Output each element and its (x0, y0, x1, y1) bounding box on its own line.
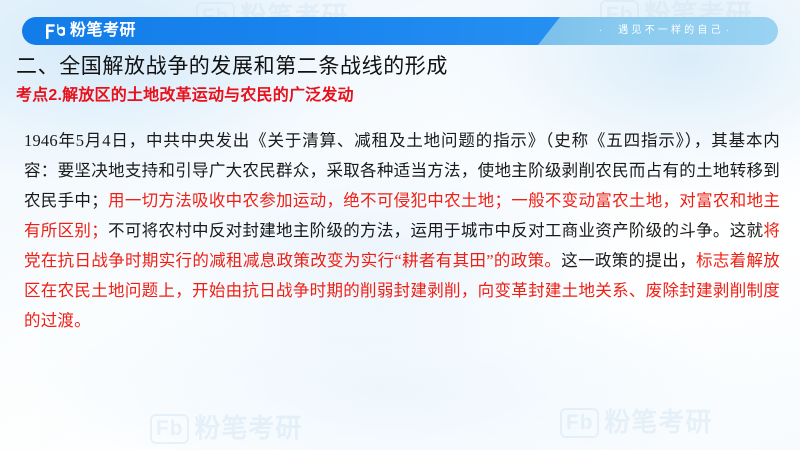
slide-canvas: Fb粉笔考研 Fb粉笔考研 Fb粉笔考研 Fb粉笔考研 粉笔考研 · 遇见不一样… (0, 0, 800, 450)
brand-logo-label: 粉笔考研 (70, 23, 136, 39)
body-paragraph: 1946年5月4日，中共中央发出《关于清算、减租及土地问题的指示》（史称《五四指… (24, 126, 780, 336)
tagline-dot-right: · (726, 26, 729, 36)
page-subtitle: 考点2.解放区的土地改革运动与农民的广泛发动 (16, 86, 354, 106)
tagline-dot-left: · (599, 26, 602, 36)
tagline-label: 遇见不一样的自己 (608, 26, 724, 36)
brand-logo-bar: 粉笔考研 (22, 17, 582, 45)
brand-logo: 粉笔考研 (44, 23, 136, 40)
body-segment-black: 不可将农村中反对封建地主阶级的方法，运用于城市中反对工商业资产阶级的斗争。这就 (108, 221, 763, 240)
brand-watermark-text: 粉笔考研 (194, 413, 302, 443)
brand-watermark: Fb粉笔考研 (150, 408, 302, 445)
body-segment-black: 这一政策的提出， (561, 251, 696, 270)
brand-watermark: Fb粉笔考研 (560, 402, 712, 439)
brand-watermark-text: 粉笔考研 (604, 407, 712, 437)
slide-header: 粉笔考研 · 遇见不一样的自己 · (22, 17, 778, 45)
brand-watermark-mark: Fb (560, 408, 599, 438)
page-title: 二、全国解放战争的发展和第二条战线的形成 (16, 53, 448, 79)
fenbi-logo-icon (44, 23, 65, 40)
tagline-bar: · 遇见不一样的自己 · (538, 17, 778, 45)
brand-watermark-mark: Fb (150, 414, 189, 444)
